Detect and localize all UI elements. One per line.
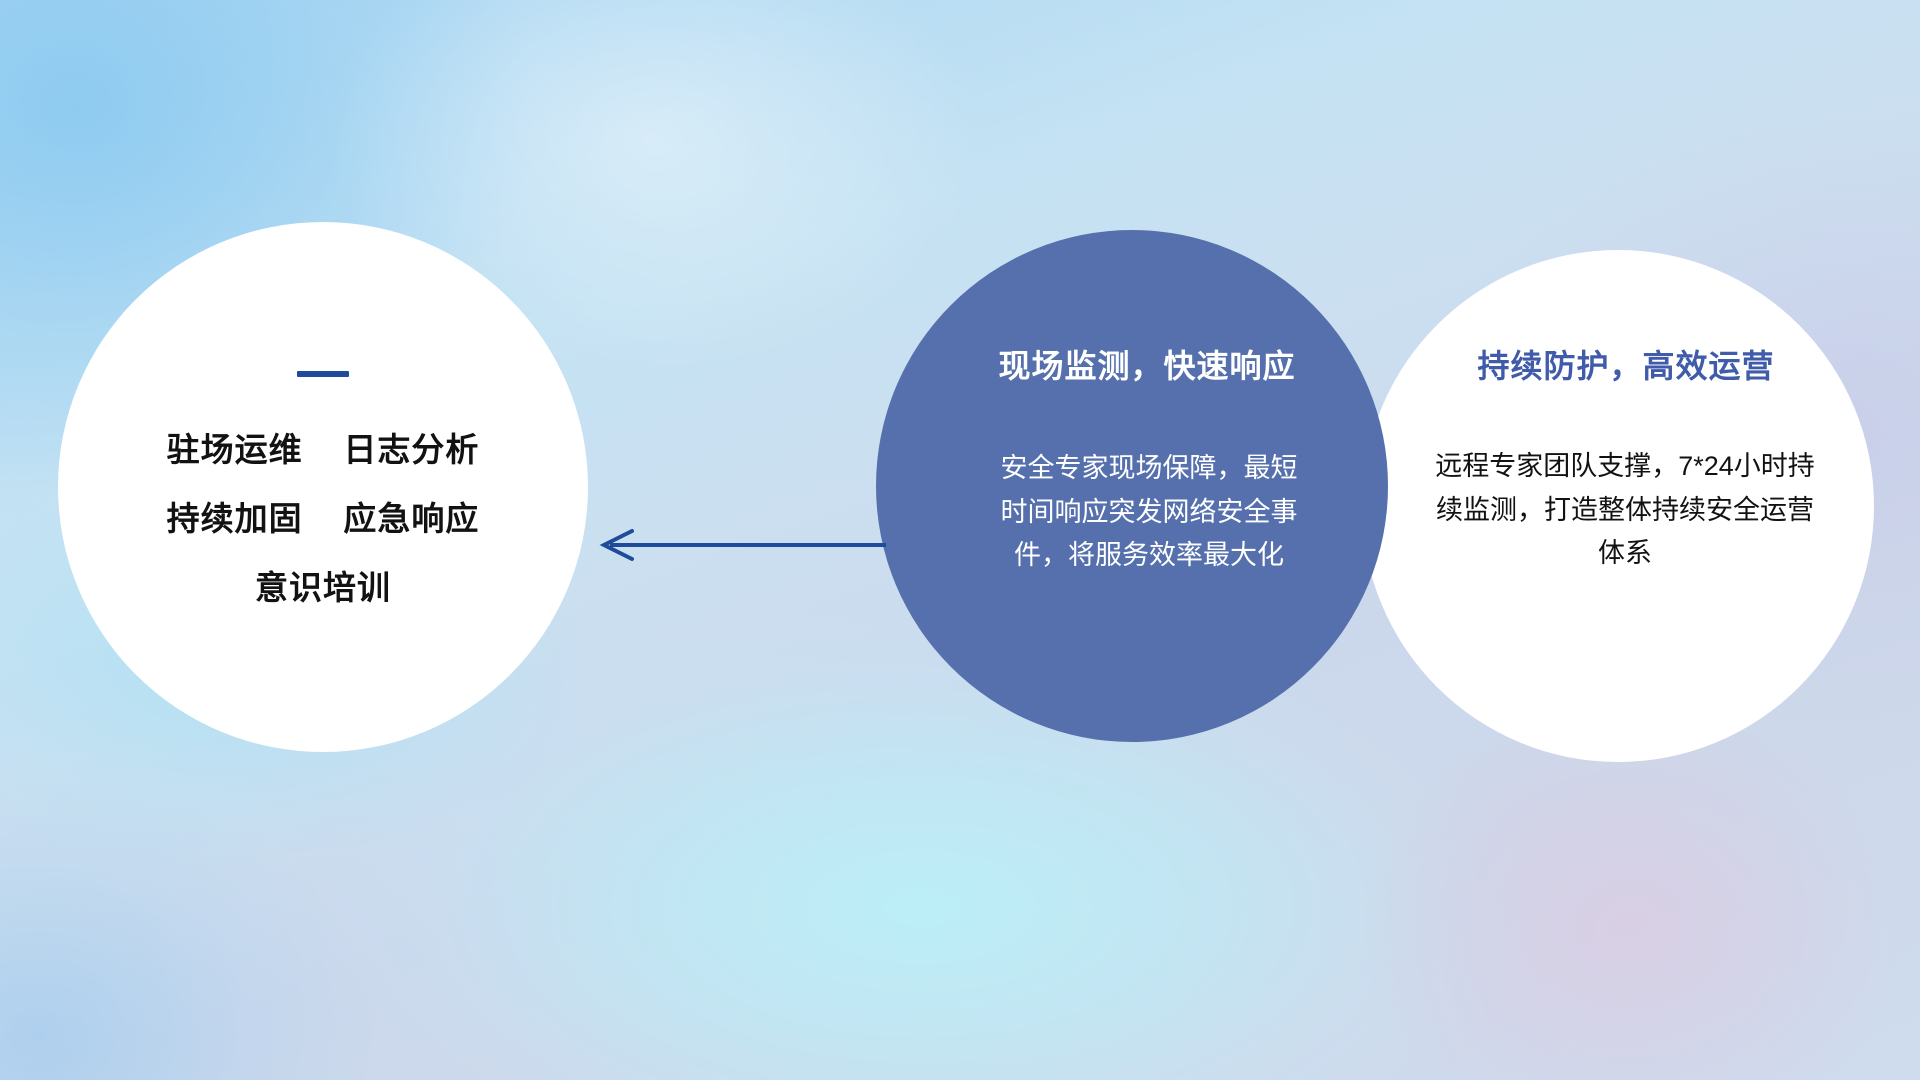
right-circle-body: 远程专家团队支撑，7*24小时持续监测，打造整体持续安全运营体系 [1425,445,1825,576]
right-circle-title: 持续防护，高效运营 [1477,348,1774,385]
left-circle-keyword-line-3: 意识培训 [255,571,391,604]
middle-circle-content: 现场监测，快速响应 安全专家现场保障，最短时间响应突发网络安全事件，将服务效率最… [876,230,1388,742]
left-circle-keyword-line-2: 持续加固 应急响应 [167,502,480,535]
right-circle-content: 持续防护，高效运营 远程专家团队支撑，7*24小时持续监测，打造整体持续安全运营… [1362,250,1874,762]
left-circle-keyword-line-1: 驻场运维 日志分析 [167,433,480,466]
left-circle-divider-rule [297,371,349,377]
left-circle-content: 驻场运维 日志分析 持续加固 应急响应 意识培训 [58,222,588,752]
slide-canvas: 驻场运维 日志分析 持续加固 应急响应 意识培训 现场监测，快速响应 安全专家现… [0,0,1920,1080]
middle-circle-title: 现场监测，快速响应 [998,348,1295,385]
left-arrow-icon [590,515,890,575]
middle-circle-body: 安全专家现场保障，最短时间响应突发网络安全事件，将服务效率最大化 [994,447,1304,578]
